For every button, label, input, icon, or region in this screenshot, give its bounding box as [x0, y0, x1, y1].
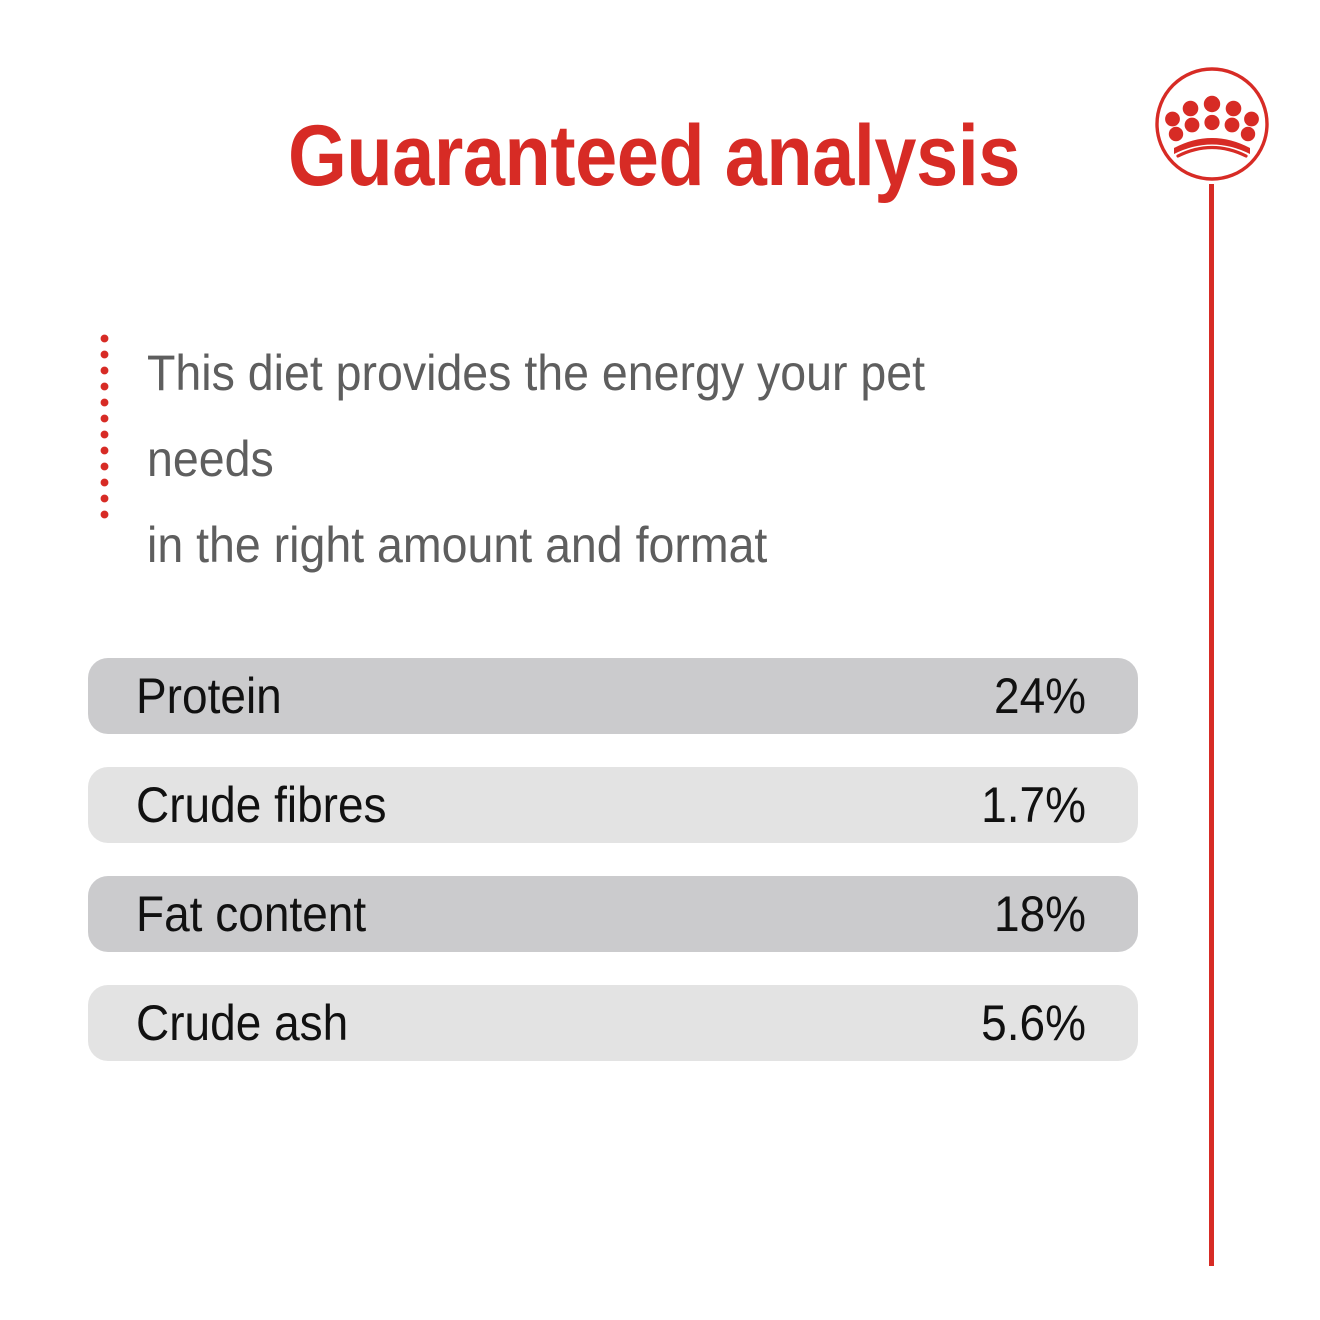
row-label: Fat content [136, 888, 366, 940]
row-label: Crude fibres [136, 779, 387, 831]
table-row: Crude ash 5.6% [88, 985, 1138, 1061]
row-value: 1.7% [981, 779, 1086, 831]
guaranteed-analysis-card: Guaranteed analysis [0, 0, 1320, 1320]
intro-block: This diet provides the energy your pet n… [100, 330, 1080, 588]
row-label: Protein [136, 670, 282, 722]
table-row: Protein 24% [88, 658, 1138, 734]
table-row: Crude fibres 1.7% [88, 767, 1138, 843]
page-title: Guaranteed analysis [288, 108, 1020, 204]
royal-canin-crown-logo [1154, 64, 1270, 188]
row-value: 18% [994, 888, 1086, 940]
row-value: 5.6% [981, 997, 1086, 1049]
dotted-accent-rule [100, 334, 109, 524]
analysis-table: Protein 24% Crude fibres 1.7% Fat conten… [88, 658, 1138, 1061]
table-row: Fat content 18% [88, 876, 1138, 952]
row-label: Crude ash [136, 997, 348, 1049]
row-value: 24% [994, 670, 1086, 722]
intro-text: This diet provides the energy your pet n… [147, 330, 1015, 588]
vertical-red-rule [1209, 184, 1214, 1266]
